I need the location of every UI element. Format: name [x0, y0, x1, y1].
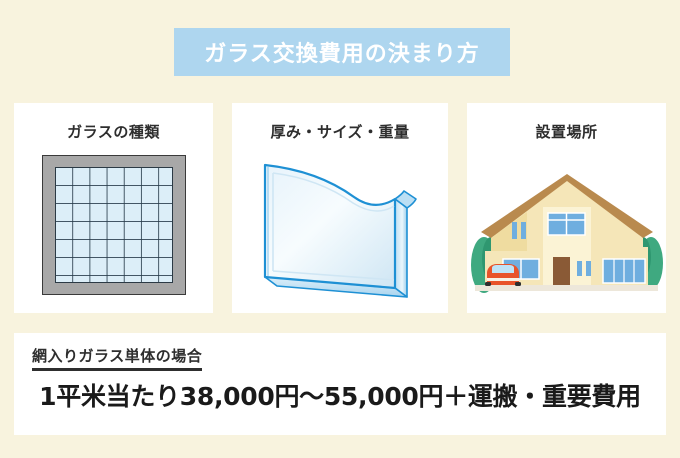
factor-card-install-location: 設置場所 — [467, 103, 666, 313]
card-title-glass-type: ガラスの種類 — [14, 121, 213, 142]
page-title: ガラス交換費用の決まり方 — [204, 36, 480, 68]
price-panel: 網入りガラス単体の場合 1平米当たり38,000円〜55,000円＋運搬・重要費… — [14, 333, 666, 435]
car-icon — [485, 264, 521, 286]
infographic-root: ガラス交換費用の決まり方 ガラスの種類 厚み・サイズ・重量 — [0, 0, 680, 458]
factor-card-glass-type: ガラスの種類 — [14, 103, 213, 313]
house-illustration — [467, 147, 666, 307]
title-banner: ガラス交換費用の決まり方 — [174, 28, 510, 76]
wire-mesh-glass-illustration — [14, 147, 213, 307]
glass-pane — [55, 167, 173, 283]
price-amount: 1平米当たり38,000円〜55,000円＋運搬・重要費用 — [14, 377, 666, 413]
glass-frame — [42, 155, 186, 295]
glass-sheet-illustration — [232, 147, 448, 307]
card-title-thickness-size-weight: 厚み・サイズ・重量 — [232, 121, 448, 142]
price-subtitle: 網入りガラス単体の場合 — [32, 345, 202, 371]
glass-sheet-svg — [232, 147, 448, 307]
card-title-install-location: 設置場所 — [467, 121, 666, 142]
factor-card-thickness-size-weight: 厚み・サイズ・重量 — [232, 103, 448, 313]
wire-grid-lines — [56, 168, 172, 282]
house-svg — [467, 147, 666, 307]
